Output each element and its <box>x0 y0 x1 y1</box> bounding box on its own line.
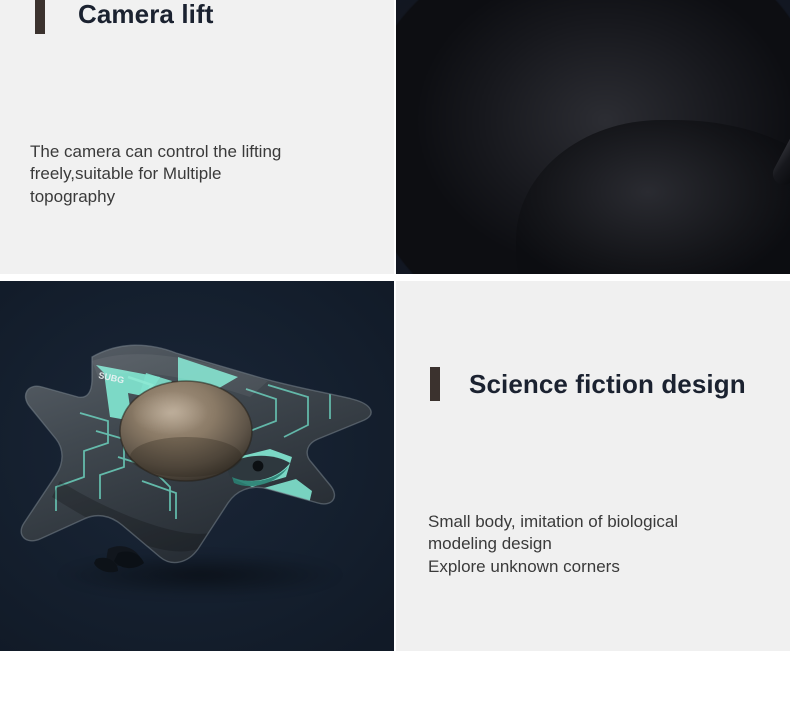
panel-science-fiction-design <box>396 281 790 651</box>
description-line: Explore unknown corners <box>428 556 768 578</box>
heading-camera-lift: Camera lift <box>35 0 213 35</box>
description-line: modeling design <box>428 533 768 555</box>
manta-drone-illustration: SUBG <box>0 281 394 651</box>
sensor-lens <box>253 461 264 472</box>
accent-bar-icon <box>430 367 440 401</box>
description-science-fiction-design: Small body, imitation of biological mode… <box>428 511 768 578</box>
description-line: freely,suitable for Multiple <box>30 163 360 185</box>
page-title-camera-lift: Camera lift <box>78 0 213 30</box>
photo-drone-camera-closeup <box>396 0 790 274</box>
heading-science-fiction-design: Science fiction design <box>430 366 746 402</box>
description-line: Small body, imitation of biological <box>428 511 768 533</box>
product-feature-image: Camera lift The camera can control the l… <box>0 0 790 714</box>
photo-manta-drone: SUBG <box>0 281 394 651</box>
description-line: topography <box>30 186 360 208</box>
dome-highlight <box>132 391 208 435</box>
panel-camera-lift: Camera lift The camera can control the l… <box>0 0 394 274</box>
drone-underside-fin <box>94 546 144 572</box>
page-title-science-fiction-design: Science fiction design <box>469 369 746 400</box>
description-camera-lift: The camera can control the lifting freel… <box>30 141 360 208</box>
description-line: The camera can control the lifting <box>30 141 360 163</box>
accent-bar-icon <box>35 0 45 34</box>
